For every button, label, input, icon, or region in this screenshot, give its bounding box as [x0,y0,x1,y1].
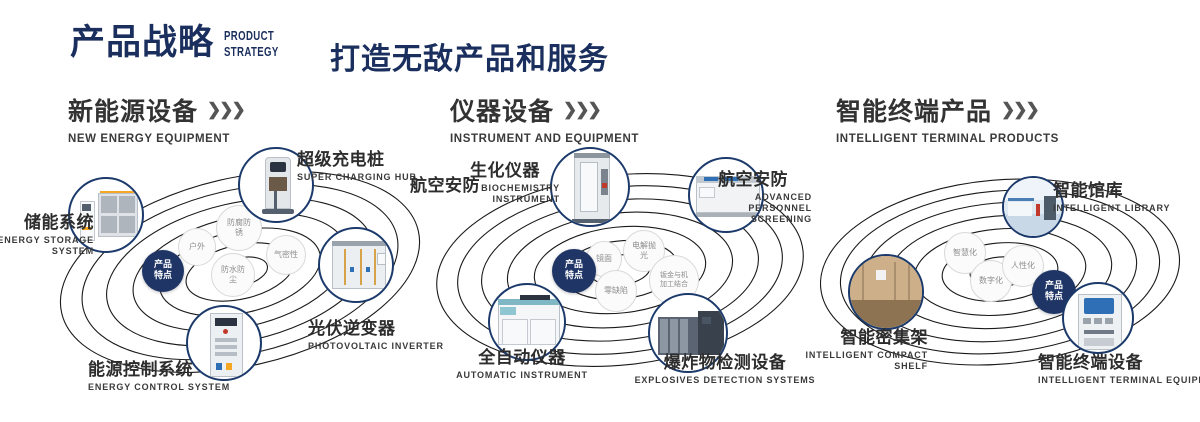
core-badge-line1: 产品 [1045,281,1063,291]
feature-bubble-label: 人性化 [1011,261,1035,271]
core-badge-label: 产品 特点 [1045,281,1063,304]
feature-bubble: 气密性 [266,235,306,275]
page-title-en: PRODUCT STRATEGY [224,29,298,61]
self-service-kiosk-icon [1064,284,1132,352]
section-heading-cn: 新能源设备 ❯❯❯ [68,92,244,128]
compact-shelf-icon [850,256,922,328]
core-badge-line1: 产品 [565,260,583,270]
infographic-canvas: 产品战略 PRODUCT STRATEGY 打造无敌产品和服务 新能源设备 ❯❯… [0,0,1200,422]
product-label-personnel-screening: 航空安防 ADVANCED PERSONNEL SCREENING [718,172,812,226]
security-gate-icon [552,149,628,225]
product-label-charging-hub: 超级充电桩 SUPER CHARGING HUB [297,152,417,183]
core-badge-line1: 产品 [154,260,172,270]
core-badge-line2: 特点 [1045,292,1063,302]
product-node-compact-shelf[interactable] [848,254,924,330]
feature-bubble: 户外 [178,228,216,266]
page-subtitle: 打造无敌产品和服务 [330,34,609,78]
product-label-en: ENERGY STORAGE SYSTEM [0,235,94,258]
feature-bubble-label: 气密性 [274,250,298,260]
product-node-terminal-equipment[interactable] [1062,282,1134,354]
section-title-text: 仪器设备 [450,92,554,128]
pv-inverter-cabinet-icon [320,229,392,301]
product-label-en: PHOTOVOLTAIC INVERTER [308,341,444,352]
section-heading-cn: 仪器设备 ❯❯❯ [450,92,639,128]
feature-bubble: 防水防尘 [211,253,255,297]
feature-bubble-label: 镜面 [596,254,612,264]
product-label-en: ENERGY CONTROL SYSTEM [88,382,230,393]
product-label-cn: 智能馆库 [1053,183,1170,201]
product-label-intelligent-library: 智能馆库 INTELLIGENT LIBRARY [1053,183,1170,214]
section-title-text: 智能终端产品 [836,92,992,128]
section-title-text: 新能源设备 [68,92,198,128]
page-title-cn: 产品战略 [70,26,214,61]
product-label-cn: 航空安防 [718,172,812,190]
core-badge-product-features: 产品 特点 [142,250,184,292]
product-label-cn: 爆炸物检测设备 [630,355,820,373]
product-label-cn: 超级充电桩 [297,152,417,170]
chevron-right-icon: ❯❯❯ [207,100,244,120]
feature-bubble-label: 户外 [189,242,205,252]
core-badge-line2: 特点 [154,271,172,281]
section-heading-en: NEW ENERGY EQUIPMENT [68,133,244,145]
product-label-pv-inverter: 光伏逆变器 PHOTOVOLTAIC INVERTER [308,321,444,352]
product-label-en: INTELLIGENT COMPACT SHELF [800,350,928,373]
feature-bubble-label: 防水防尘 [219,265,247,285]
feature-bubble: 零缺陷 [595,270,637,312]
page-title: 产品战略 PRODUCT STRATEGY [70,26,298,61]
product-label-en: SUPER CHARGING HUB [297,172,417,183]
section-heading-new-energy: 新能源设备 ❯❯❯ NEW ENERGY EQUIPMENT [68,92,244,145]
product-label-cn: 全自动仪器 [442,350,602,368]
product-label-en: AUTOMATIC INSTRUMENT [442,370,602,381]
page-title-en-line2: STRATEGY [224,45,279,61]
section-heading-en: INTELLIGENT TERMINAL PRODUCTS [836,133,1059,145]
product-label-cn: 储能系统 [0,215,94,233]
section-heading-intelligent: 智能终端产品 ❯❯❯ INTELLIGENT TERMINAL PRODUCTS [836,92,1059,145]
product-label-en: ADVANCED PERSONNEL SCREENING [718,192,812,226]
chevron-right-icon: ❯❯❯ [563,100,600,120]
product-label-en: BIOCHEMISTRY INSTRUMENT [470,183,560,206]
product-node-biochemistry-instrument[interactable] [550,147,630,227]
product-label-cn: 光伏逆变器 [308,321,444,339]
feature-bubble-label: 智慧化 [953,248,977,258]
product-label-automatic-instrument: 全自动仪器 AUTOMATIC INSTRUMENT [442,350,602,381]
product-label-en: EXPLOSIVES DETECTION SYSTEMS [630,375,820,386]
product-label-energy-control: 能源控制系统 ENERGY CONTROL SYSTEM [88,362,230,393]
product-label-cn: 智能密集架 [800,330,928,348]
feature-bubble-label: 电解抛光 [631,241,657,261]
section-heading-en: INSTRUMENT AND EQUIPMENT [450,133,639,145]
section-heading-instrument: 仪器设备 ❯❯❯ INSTRUMENT AND EQUIPMENT [450,92,639,145]
product-label-compact-shelf: 智能密集架 INTELLIGENT COMPACT SHELF [800,330,928,372]
product-label-en: INTELLIGENT LIBRARY [1053,203,1170,214]
product-label-cn: 生化仪器 [470,163,560,181]
orbit-panel-new-energy: 户外 防腐防锈 防水防尘 气密性 产品 特点 [50,155,430,390]
feature-bubble-label: 数字化 [979,276,1003,286]
chevron-right-icon: ❯❯❯ [1001,100,1038,120]
core-badge-line2: 特点 [565,271,583,281]
feature-bubble-label: 零缺陷 [604,286,628,296]
page-title-en-line1: PRODUCT [224,29,279,45]
product-label-explosives-detection: 爆炸物检测设备 EXPLOSIVES DETECTION SYSTEMS [630,355,820,386]
product-label-energy-storage: 储能系统 ENERGY STORAGE SYSTEM [0,215,94,257]
product-label-biochemistry: 生化仪器 BIOCHEMISTRY INSTRUMENT [470,163,560,205]
product-label-cn: 智能终端设备 [1038,355,1200,373]
feature-bubble-label: 防腐防锈 [224,218,254,238]
product-label-cn: 能源控制系统 [88,362,230,380]
product-label-terminal-equipment: 智能终端设备 INTELLIGENT TERMINAL EQUIPMENT [1038,355,1200,386]
product-node-pv-inverter[interactable] [318,227,394,303]
feature-bubble-label: 钣金与机加工结合 [657,271,691,289]
core-badge-label: 产品 特点 [565,260,583,283]
product-label-en: INTELLIGENT TERMINAL EQUIPMENT [1038,375,1200,386]
core-badge-label: 产品 特点 [154,260,172,283]
section-heading-cn: 智能终端产品 ❯❯❯ [836,92,1059,128]
